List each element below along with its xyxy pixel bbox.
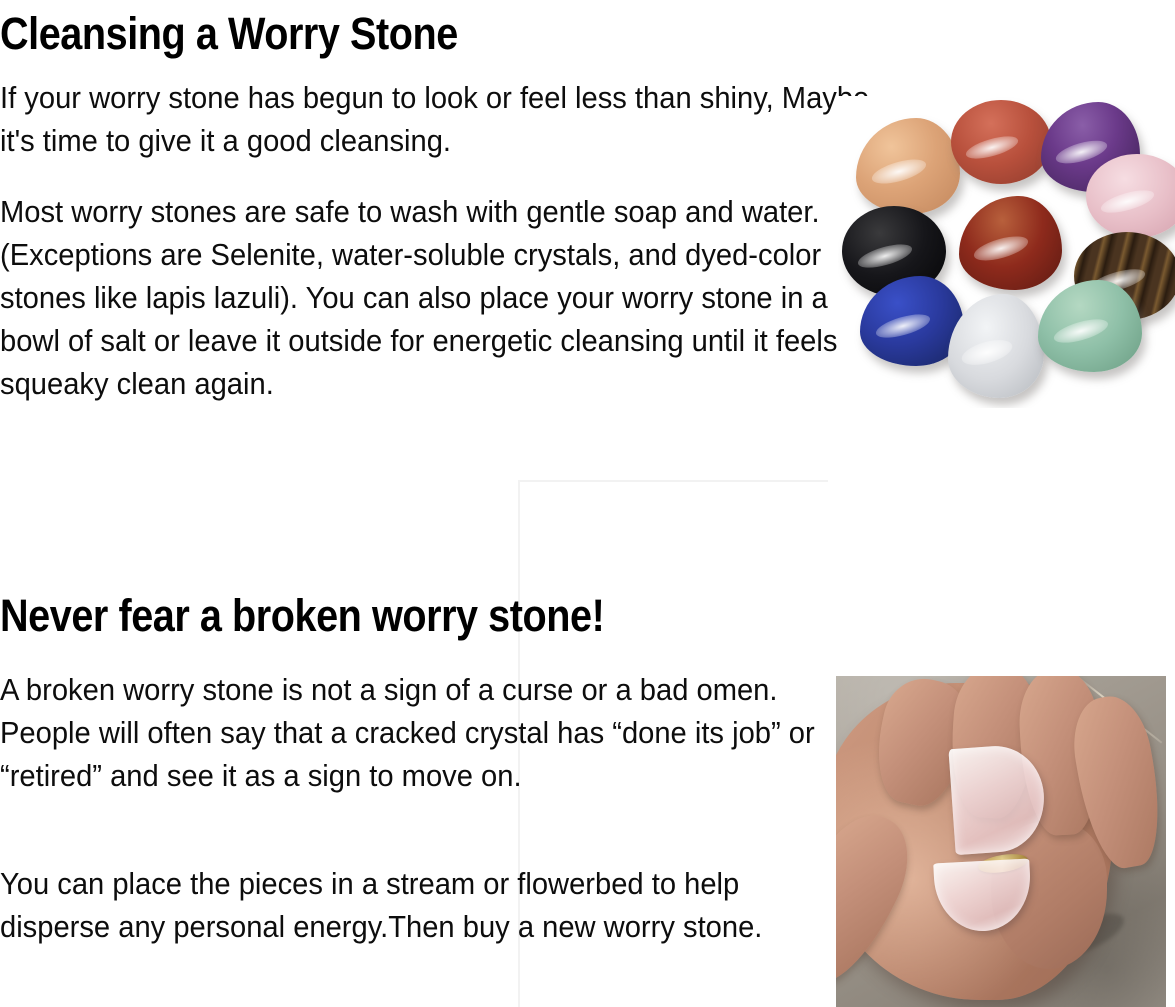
stone-rose-quartz xyxy=(1086,154,1175,238)
panel-seam-horizontal xyxy=(518,480,828,482)
stone-peach-moonstone xyxy=(856,118,960,214)
stone-carnelian-agate xyxy=(959,196,1062,290)
section-paragraph: You can place the pieces in a stream or … xyxy=(0,862,827,948)
stone-red-jasper xyxy=(951,100,1051,184)
section-title-cleansing: Cleansing a Worry Stone xyxy=(0,8,458,60)
section-paragraph: If your worry stone has begun to look or… xyxy=(0,76,902,162)
image-broken-stone-in-hand xyxy=(836,676,1166,1007)
section-paragraph: A broken worry stone is not a sign of a … xyxy=(0,668,827,797)
section-paragraph: Most worry stones are safe to wash with … xyxy=(0,190,846,405)
stone-green-aventurine xyxy=(1038,280,1142,372)
stone-clear-quartz xyxy=(948,294,1044,398)
section-title-broken: Never fear a broken worry stone! xyxy=(0,590,604,642)
image-stones-assortment xyxy=(838,96,1175,408)
